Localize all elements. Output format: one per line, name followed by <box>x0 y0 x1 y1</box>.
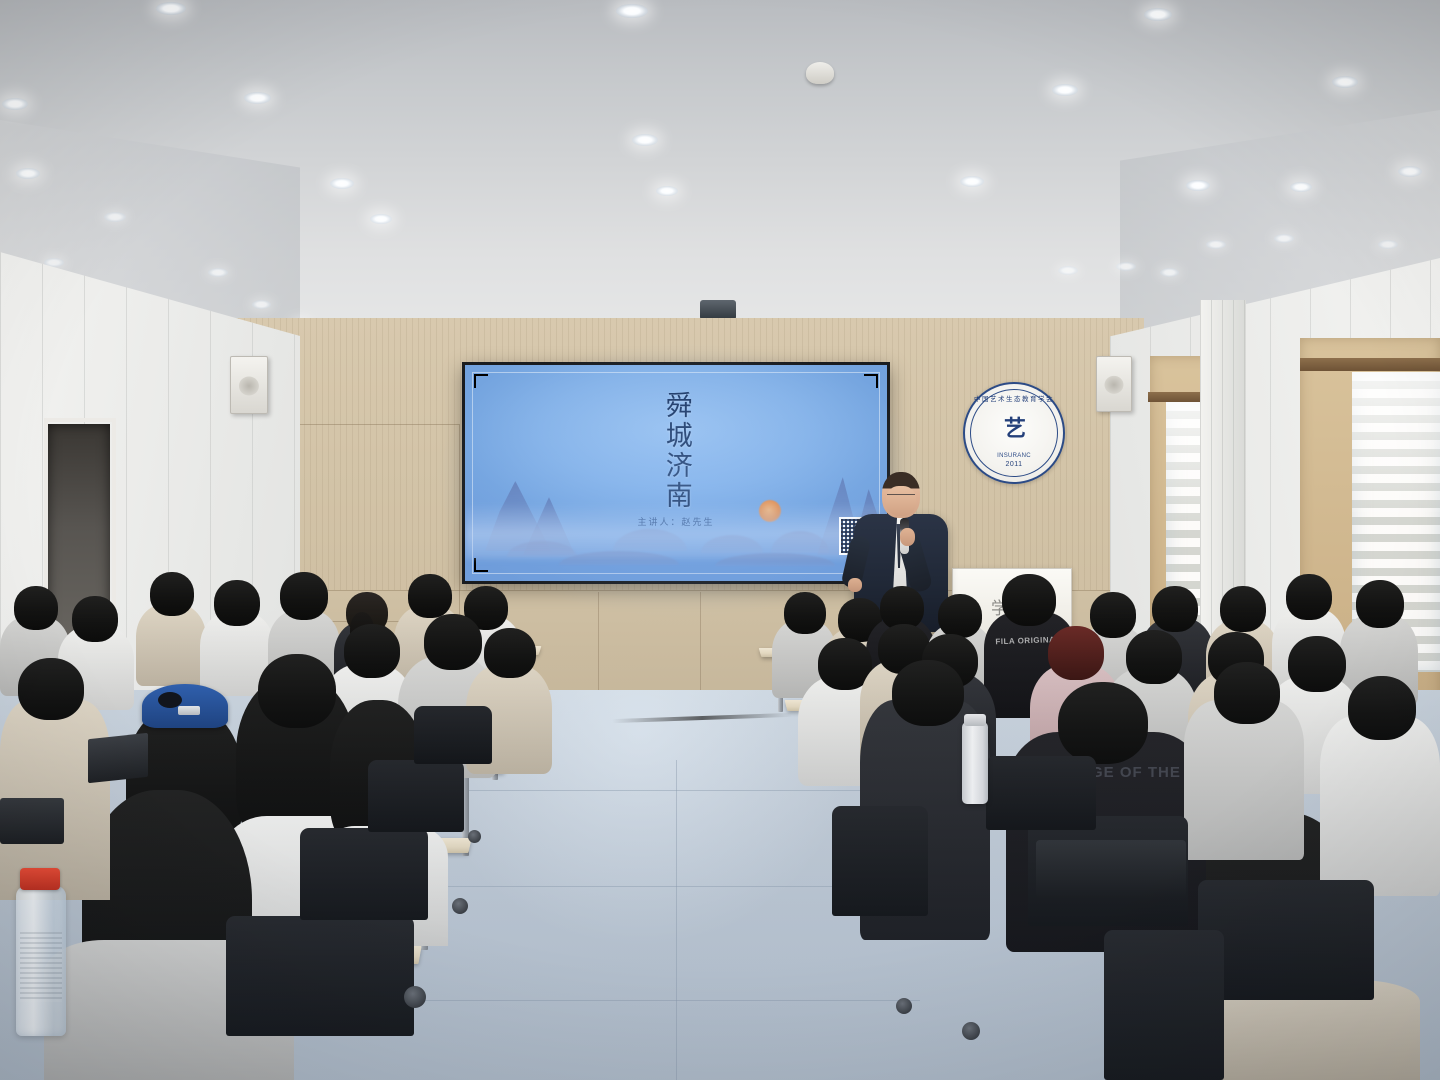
chair-caster <box>404 986 426 1008</box>
audience-head <box>938 594 982 638</box>
bottle-cap-icon <box>20 868 60 890</box>
chair-back <box>832 806 928 916</box>
speaker-cone <box>239 377 259 396</box>
slide-surface: 舜城济南 主讲人：赵先生 <box>465 365 887 581</box>
audience-head <box>1152 586 1198 632</box>
chair-caster <box>468 830 481 843</box>
audience-head <box>424 614 482 670</box>
emblem-glyph: 艺 <box>1004 418 1024 440</box>
smoke-detector-icon <box>806 62 834 84</box>
corner-mark-icon <box>474 558 488 572</box>
laptop[interactable] <box>1036 840 1186 898</box>
chair-back <box>300 828 428 920</box>
emblem-top-text: 中国艺术生态教育学会 <box>965 393 1063 403</box>
audience-head <box>1002 574 1056 626</box>
downlight <box>330 178 354 189</box>
audience-head <box>1214 662 1280 724</box>
school-emblem: 中国艺术生态教育学会 艺 INSURANC 2011 <box>963 382 1065 484</box>
downlight <box>1378 240 1398 249</box>
audience-head <box>1048 626 1104 680</box>
downlight <box>244 92 271 104</box>
presenter-hand <box>848 578 862 592</box>
laptop[interactable] <box>88 733 148 783</box>
emblem-english: INSURANC <box>965 453 1063 459</box>
window-header-near <box>1300 358 1440 371</box>
floor-seam <box>400 1000 920 1001</box>
downlight <box>370 214 392 224</box>
audience-head <box>214 580 260 626</box>
presenter-face <box>886 486 916 516</box>
audience-body <box>136 604 206 686</box>
window-light-near <box>1352 372 1440 512</box>
chair-back <box>368 760 464 832</box>
downlight <box>1206 240 1226 249</box>
audience-head <box>1286 574 1332 620</box>
corner-mark-icon <box>864 374 878 388</box>
slide-subtitle: 主讲人：赵先生 <box>637 515 714 528</box>
audience-head <box>1220 586 1266 632</box>
chair-back <box>414 706 492 764</box>
projection-screen[interactable]: 舜城济南 主讲人：赵先生 <box>462 362 890 584</box>
downlight <box>1144 8 1172 21</box>
audience-head <box>14 586 58 630</box>
audience-head <box>280 572 328 620</box>
chair-back <box>1198 880 1374 1000</box>
corner-mark-icon <box>474 374 488 388</box>
audience-head <box>784 592 826 634</box>
downlight <box>1160 268 1179 277</box>
downlight <box>1116 262 1136 271</box>
glasses-icon <box>887 494 915 501</box>
speaker-cone <box>1104 376 1123 394</box>
downlight <box>16 168 40 179</box>
audience-head <box>1090 592 1136 638</box>
audience-head <box>484 628 536 678</box>
audience-head <box>892 660 964 726</box>
downlight <box>1290 182 1312 192</box>
audience-head <box>150 572 194 616</box>
slide-title: 舜城济南 <box>662 391 690 511</box>
audience-head <box>1058 682 1148 764</box>
downlight <box>656 186 678 196</box>
audience-head <box>18 658 84 720</box>
cap-opening <box>158 692 182 708</box>
cap-strap <box>178 706 200 715</box>
audience-body <box>1320 716 1440 896</box>
floor-seam <box>430 886 900 887</box>
audience-head <box>408 574 452 618</box>
downlight <box>104 212 126 222</box>
audience-head <box>258 654 336 728</box>
emblem-year: 2011 <box>965 461 1063 468</box>
mist-layer <box>465 503 887 559</box>
downlight <box>616 4 648 18</box>
audience-head <box>1126 630 1182 684</box>
thermos-bottle[interactable] <box>962 722 988 804</box>
floor-seam <box>676 760 677 1080</box>
downlight <box>208 268 228 277</box>
downlight <box>252 300 271 309</box>
chair-back <box>1104 930 1224 1080</box>
downlight <box>1332 76 1358 88</box>
audience-body <box>1184 700 1304 860</box>
thermos-cap-icon <box>964 714 986 726</box>
audience-head <box>1356 580 1404 628</box>
downlight <box>960 176 984 187</box>
downlight <box>632 134 658 146</box>
floor-seam <box>460 790 880 791</box>
downlight <box>1398 166 1422 177</box>
downlight <box>1274 234 1294 243</box>
chair-caster <box>962 1022 980 1040</box>
audience-head <box>72 596 118 642</box>
bottle-label <box>20 932 62 1002</box>
lecture-hall-photo: 中国艺术生态教育学会 艺 INSURANC 2011 <box>0 0 1440 1080</box>
wall-speaker-left <box>230 356 268 414</box>
wall-speaker-right <box>1096 356 1132 412</box>
chair-caster <box>452 898 468 914</box>
chair-caster <box>896 998 912 1014</box>
audience-head <box>344 624 400 678</box>
audience-head <box>1288 636 1346 692</box>
laptop[interactable] <box>0 798 64 844</box>
audience-head <box>1348 676 1416 740</box>
chair-back <box>226 916 414 1036</box>
downlight <box>156 2 186 15</box>
chair-back <box>986 756 1096 830</box>
downlight <box>1186 180 1210 191</box>
downlight <box>2 98 28 110</box>
presenter-hand <box>900 528 915 546</box>
downlight <box>1052 84 1078 96</box>
